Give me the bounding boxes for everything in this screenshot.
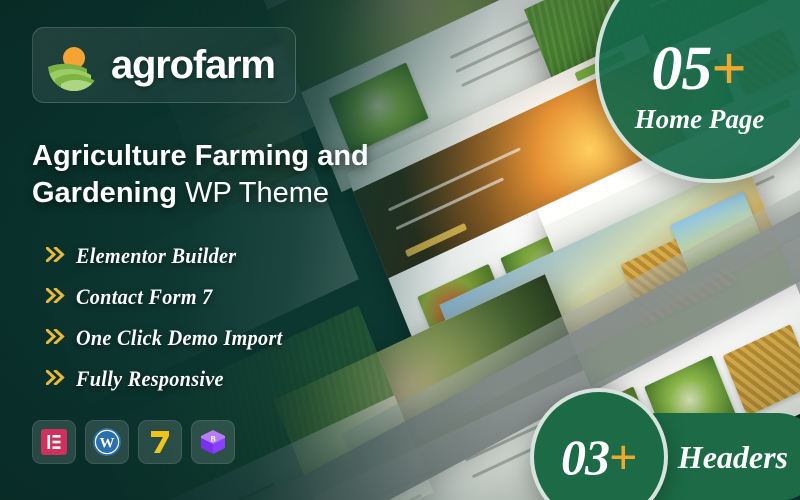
headers-caption: Headers bbox=[678, 439, 788, 476]
headers-plus: + bbox=[609, 429, 637, 485]
headers-number: 03 bbox=[561, 429, 609, 485]
headers-count: 03+ bbox=[561, 432, 637, 482]
svg-text:W: W bbox=[100, 436, 115, 452]
promo-banner: agrofarm Agriculture Farming and Gardeni… bbox=[0, 0, 800, 500]
double-chevron-right-icon bbox=[46, 288, 65, 307]
contact-form-7-icon bbox=[138, 420, 182, 464]
home-page-number: 05 bbox=[651, 35, 711, 103]
double-chevron-right-icon bbox=[46, 329, 65, 348]
page-title: Agriculture Farming and Gardening WP The… bbox=[32, 138, 432, 212]
plugin-badge-row: W B bbox=[32, 420, 235, 464]
home-page-count: 05+ bbox=[651, 40, 745, 99]
logo-panel: agrofarm bbox=[32, 27, 296, 103]
feature-list: Elementor Builder Contact Form 7 One Cli… bbox=[46, 243, 386, 407]
list-item: One Click Demo Import bbox=[46, 325, 386, 351]
brand-name: agrofarm bbox=[111, 45, 275, 85]
list-item: Elementor Builder bbox=[46, 243, 386, 269]
home-page-plus: + bbox=[711, 35, 745, 103]
feature-label: Elementor Builder bbox=[76, 243, 236, 269]
wordpress-icon: W bbox=[85, 420, 129, 464]
headers-count-circle: 03+ bbox=[530, 388, 668, 500]
elementor-icon bbox=[32, 420, 76, 464]
home-page-caption: Home Page bbox=[635, 104, 765, 135]
sun-over-field-icon bbox=[47, 38, 101, 92]
double-chevron-right-icon bbox=[46, 247, 65, 266]
list-item: Contact Form 7 bbox=[46, 284, 386, 310]
headers-count-badge: 03+ Headers bbox=[530, 388, 800, 500]
double-chevron-right-icon bbox=[46, 370, 65, 389]
bootstrap-icon: B bbox=[191, 420, 235, 464]
headline-light: WP Theme bbox=[177, 177, 329, 209]
feature-label: One Click Demo Import bbox=[76, 325, 283, 351]
list-item: Fully Responsive bbox=[46, 366, 386, 392]
feature-label: Fully Responsive bbox=[76, 366, 224, 392]
feature-label: Contact Form 7 bbox=[76, 284, 213, 310]
svg-text:B: B bbox=[210, 435, 216, 444]
